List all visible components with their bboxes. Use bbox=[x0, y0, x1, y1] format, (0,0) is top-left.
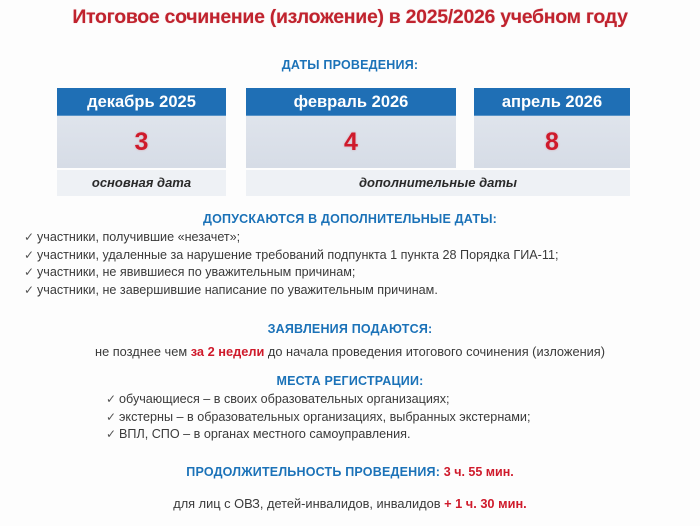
duration-note-prefix: для лиц с ОВЗ, детей-инвалидов, инвалидо… bbox=[173, 496, 444, 511]
list-item-text: участники, не явившиеся по уважительным … bbox=[37, 265, 355, 279]
list-item-text: ВПЛ, СПО – в органах местного самоуправл… bbox=[119, 427, 410, 441]
applications-prefix: не позднее чем bbox=[95, 344, 191, 359]
duration-line: ПРОДОЛЖИТЕЛЬНОСТЬ ПРОВЕДЕНИЯ: 3 ч. 55 ми… bbox=[0, 463, 700, 481]
check-icon: ✓ bbox=[24, 247, 37, 265]
applications-highlight: за 2 недели bbox=[191, 344, 265, 359]
date-box-day-cell: 3 bbox=[57, 116, 226, 168]
list-item: ✓экстерны – в образовательных организаци… bbox=[106, 409, 700, 427]
check-icon: ✓ bbox=[24, 229, 37, 247]
applications-deadline-text: не позднее чем за 2 недели до начала про… bbox=[0, 344, 700, 359]
check-icon: ✓ bbox=[24, 282, 37, 300]
list-item: ✓участники, удаленные за нарушение требо… bbox=[24, 247, 700, 265]
list-item-text: участники, не завершившие написание по у… bbox=[37, 283, 438, 297]
check-icon: ✓ bbox=[24, 264, 37, 282]
caption-main-date: основная дата bbox=[57, 170, 226, 196]
date-box-month-label: декабрь 2025 bbox=[57, 88, 226, 116]
applications-section-heading: ЗАЯВЛЕНИЯ ПОДАЮТСЯ: bbox=[0, 322, 700, 336]
list-item-text: участники, удаленные за нарушение требов… bbox=[37, 248, 558, 262]
list-item: ✓участники, получившие «незачет»; bbox=[24, 229, 700, 247]
applications-suffix: до начала проведения итогового сочинения… bbox=[264, 344, 605, 359]
page-title-text: Итоговое сочинение (изложение) в 2025/20… bbox=[72, 6, 627, 29]
date-box-day-cell: 8 bbox=[474, 116, 630, 168]
registration-list: ✓обучающиеся – в своих образовательных о… bbox=[0, 391, 700, 444]
admitted-list: ✓участники, получившие «незачет»; ✓участ… bbox=[0, 229, 700, 299]
date-box-day-cell: 4 bbox=[246, 116, 456, 168]
date-box-december: декабрь 2025 3 bbox=[57, 88, 226, 168]
date-box-day-number: 3 bbox=[135, 128, 149, 157]
duration-note-highlight: + 1 ч. 30 мин. bbox=[444, 496, 527, 511]
page-title: Итоговое сочинение (изложение) в 2025/20… bbox=[0, 6, 700, 29]
dates-section-heading: ДАТЫ ПРОВЕДЕНИЯ: bbox=[0, 58, 700, 72]
date-box-month-label: февраль 2026 bbox=[246, 88, 456, 116]
admitted-section-heading: ДОПУСКАЮТСЯ В ДОПОЛНИТЕЛЬНЫЕ ДАТЫ: bbox=[0, 212, 700, 226]
date-box-april: апрель 2026 8 bbox=[474, 88, 630, 168]
list-item: ✓участники, не завершившие написание по … bbox=[24, 282, 700, 300]
registration-section-heading: МЕСТА РЕГИСТРАЦИИ: bbox=[0, 374, 700, 388]
date-box-day-number: 4 bbox=[344, 128, 358, 157]
caption-additional-dates: дополнительные даты bbox=[246, 170, 630, 196]
date-box-february: февраль 2026 4 bbox=[246, 88, 456, 168]
list-item-text: экстерны – в образовательных организация… bbox=[119, 410, 530, 424]
check-icon: ✓ bbox=[106, 426, 119, 444]
duration-value: 3 ч. 55 мин. bbox=[444, 465, 514, 479]
list-item-text: обучающиеся – в своих образовательных ор… bbox=[119, 392, 450, 406]
list-item: ✓ВПЛ, СПО – в органах местного самоуправ… bbox=[106, 426, 700, 444]
list-item-text: участники, получившие «незачет»; bbox=[37, 230, 240, 244]
check-icon: ✓ bbox=[106, 409, 119, 427]
check-icon: ✓ bbox=[106, 391, 119, 409]
list-item: ✓участники, не явившиеся по уважительным… bbox=[24, 264, 700, 282]
date-box-day-number: 8 bbox=[545, 128, 559, 157]
date-box-month-label: апрель 2026 bbox=[474, 88, 630, 116]
duration-note: для лиц с ОВЗ, детей-инвалидов, инвалидо… bbox=[0, 496, 700, 511]
duration-label: ПРОДОЛЖИТЕЛЬНОСТЬ ПРОВЕДЕНИЯ: bbox=[186, 465, 444, 479]
list-item: ✓обучающиеся – в своих образовательных о… bbox=[106, 391, 700, 409]
